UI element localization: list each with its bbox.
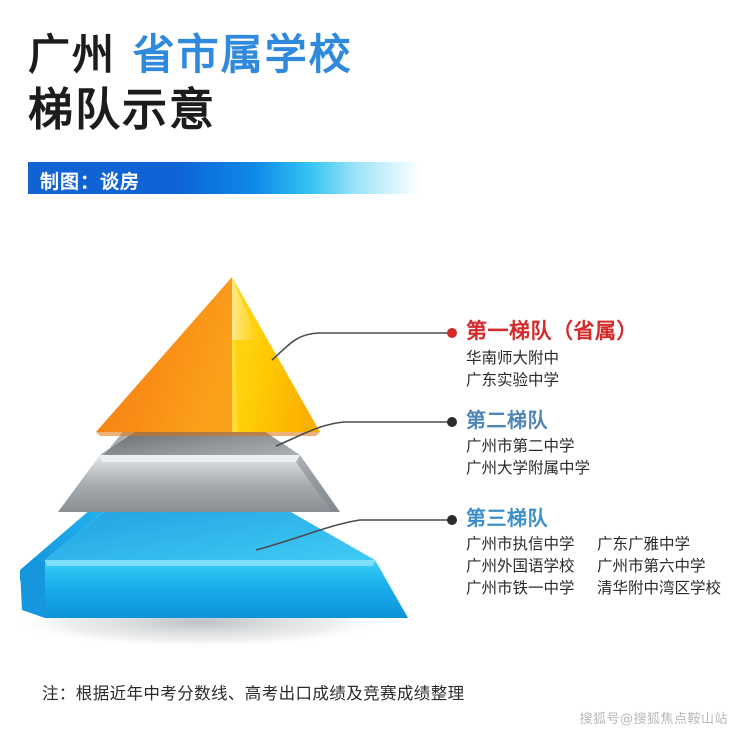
title-space: [116, 30, 133, 79]
school-name: 广东广雅中学: [597, 533, 690, 555]
tier-1-left-face: [96, 277, 232, 432]
callout-tier-2-title: 第二梯队: [466, 409, 590, 431]
school-row: 广州市第二中学: [466, 435, 590, 457]
page-title-city: 广州: [28, 30, 116, 79]
school-row: 广东实验中学: [466, 369, 638, 391]
leader-line-tier-1: [272, 333, 449, 360]
callout-tier-1: 第一梯队（省属） 华南师大附中 广东实验中学: [466, 320, 638, 391]
callout-tier-2: 第二梯队 广州市第二中学 广州大学附属中学: [466, 409, 590, 479]
school-name: 广州市执信中学: [466, 533, 592, 555]
pyramid-tier-1-apex: [96, 277, 320, 436]
school-name: 清华附中湾区学校: [597, 577, 721, 599]
tier-1-base-edge: [96, 432, 320, 436]
school-name: 华南师大附中: [466, 347, 559, 369]
school-name: 广州市第六中学: [597, 555, 706, 577]
page-title-line-1: 广州 省市属学校: [28, 34, 353, 76]
footnote: 注：根据近年中考分数线、高考出口成绩及竞赛成绩整理: [42, 680, 465, 704]
watermark: 搜狐号@搜狐焦点鞍山站: [579, 708, 728, 727]
leader-dot-tier-3: [447, 515, 457, 525]
pyramid-diagram: [0, 250, 470, 650]
header: 广州 省市属学校 梯队示意 制图：谈房: [0, 0, 740, 215]
tier-2-highlight: [100, 455, 300, 462]
school-name: 广东实验中学: [466, 369, 559, 391]
tier-1-right-face: [232, 277, 320, 432]
callout-tier-3-title: 第三梯队: [466, 507, 721, 529]
school-row: 广州市铁一中学 清华附中湾区学校: [466, 577, 721, 599]
school-name: 广州大学附属中学: [466, 457, 590, 479]
page-title-line-2: 梯队示意: [28, 87, 216, 132]
tier-3-left-wedge: [20, 560, 45, 618]
school-row: 广州大学附属中学: [466, 457, 590, 479]
school-row: 广州外国语学校 广州市第六中学: [466, 555, 721, 577]
credit-banner-label: 制图：谈房: [40, 167, 140, 194]
callout-tier-2-schools: 广州市第二中学 广州大学附属中学: [466, 435, 590, 479]
page-title-highlight: 省市属学校: [133, 30, 353, 79]
school-row: 广州市执信中学 广东广雅中学: [466, 533, 721, 555]
leader-dot-tier-2: [447, 417, 457, 427]
tier-3-highlight: [45, 560, 375, 566]
leader-dot-tier-1: [447, 328, 457, 338]
callout-tier-1-title: 第一梯队（省属）: [466, 320, 638, 343]
school-row: 华南师大附中: [466, 347, 638, 369]
school-name: 广州市第二中学: [466, 435, 575, 457]
tier-3-front-face: [45, 560, 408, 618]
callout-tier-3: 第三梯队 广州市执信中学 广东广雅中学 广州外国语学校 广州市第六中学 广州市铁…: [466, 507, 721, 599]
school-name: 广州外国语学校: [466, 555, 592, 577]
callout-tier-1-schools: 华南师大附中 广东实验中学: [466, 347, 638, 391]
credit-banner: 制图：谈房: [28, 162, 420, 194]
infographic-page: 广州 省市属学校 梯队示意 制图：谈房: [0, 0, 740, 739]
callout-tier-3-schools: 广州市执信中学 广东广雅中学 广州外国语学校 广州市第六中学 广州市铁一中学 清…: [466, 533, 721, 599]
school-name: 广州市铁一中学: [466, 577, 592, 599]
pyramid-tier-3-blue: [20, 503, 408, 618]
